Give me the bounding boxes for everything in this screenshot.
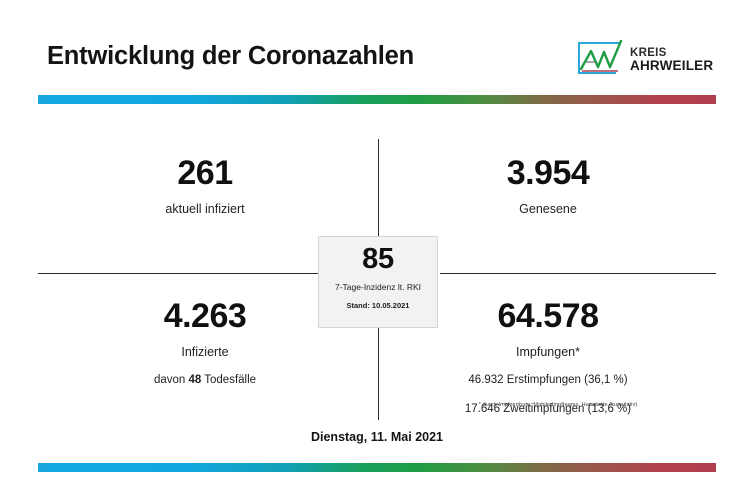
- stat-aktuell-infiziert: 261 aktuell infiziert: [70, 155, 340, 218]
- stat-sub-todesfaelle: davon 48 Todesfälle: [70, 372, 340, 389]
- incidence-date: Stand: 10.05.2021: [347, 301, 410, 310]
- incidence-box: 85 7-Tage-Inzidenz lt. RKI Stand: 10.05.…: [318, 236, 438, 328]
- header: Entwicklung der Coronazahlen KREIS AHRWE: [0, 0, 754, 92]
- divider-horizontal-right: [440, 273, 716, 274]
- stat-impfungen: 64.578 Impfungen* 46.932 Erstimpfungen (…: [408, 298, 688, 418]
- todesfaelle-prefix: davon: [154, 374, 189, 386]
- logo-line-ahrweiler: AHRWEILER: [630, 59, 713, 73]
- incidence-label: 7-Tage-Inzidenz lt. RKI: [335, 282, 421, 292]
- coronazahlen-infographic: Entwicklung der Coronazahlen KREIS AHRWE: [0, 0, 754, 501]
- stat-infizierte: 4.263 Infizierte davon 48 Todesfälle: [70, 298, 340, 390]
- incidence-value: 85: [362, 243, 394, 276]
- gradient-bar-bottom: [38, 463, 716, 472]
- footer-date: Dienstag, 11. Mai 2021: [0, 430, 754, 444]
- logo-wordmark: KREIS AHRWEILER: [630, 45, 713, 73]
- stat-detail-erstimpfungen: 46.932 Erstimpfungen (36,1 %): [408, 372, 688, 389]
- divider-vertical-bottom: [378, 328, 379, 420]
- divider-vertical-top: [378, 139, 379, 237]
- stat-value-impfungen: 64.578: [408, 298, 688, 335]
- stat-label-infizierte: Infizierte: [70, 344, 340, 361]
- todesfaelle-suffix: Todesfälle: [201, 374, 256, 386]
- aw-monogram-icon: [576, 40, 626, 78]
- stat-label-impfungen: Impfungen*: [408, 344, 688, 361]
- divider-horizontal-left: [38, 273, 320, 274]
- stat-label-aktuell-infiziert: aktuell infiziert: [70, 201, 340, 218]
- stat-label-genesene: Genesene: [408, 201, 688, 218]
- stat-genesene: 3.954 Genesene: [408, 155, 688, 218]
- kreis-ahrweiler-logo[interactable]: KREIS AHRWEILER: [576, 37, 716, 81]
- stat-value-genesene: 3.954: [408, 155, 688, 192]
- stat-value-aktuell-infiziert: 261: [70, 155, 340, 192]
- page-title: Entwicklung der Coronazahlen: [47, 42, 414, 71]
- todesfaelle-count: 48: [188, 374, 201, 386]
- stat-value-infizierte: 4.263: [70, 298, 340, 335]
- impfungen-footnote: * durch Impfzentrum, Mobile Impfteams, H…: [408, 402, 708, 408]
- gradient-bar-top: [38, 95, 716, 104]
